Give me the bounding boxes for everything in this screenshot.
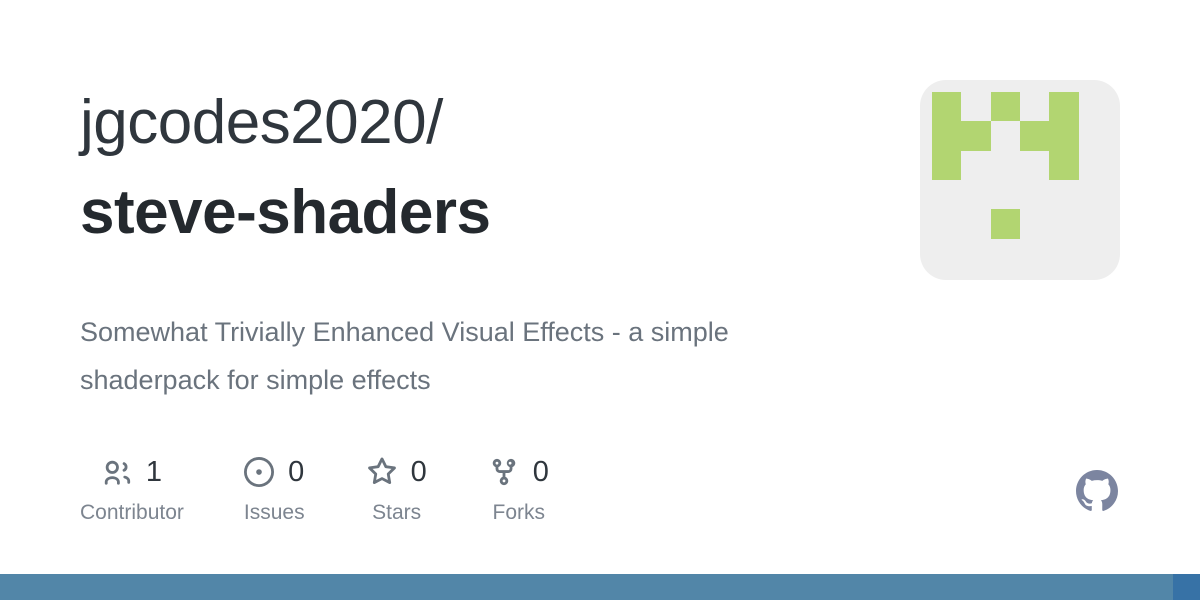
avatar-pixel-3-1 xyxy=(961,180,990,209)
avatar-pixel-2-4 xyxy=(1049,151,1078,180)
avatar-pixel-0-0 xyxy=(932,92,961,121)
star-icon xyxy=(367,457,397,487)
avatar-pixel-2-3 xyxy=(1020,151,1049,180)
repository-name: steve-shaders xyxy=(80,182,840,244)
avatar-pixel-5-4 xyxy=(1049,239,1078,268)
github-octocat-icon xyxy=(1076,470,1118,512)
stat-forks: 0 Forks xyxy=(489,452,549,523)
stat-stars-top: 0 xyxy=(367,452,427,492)
avatar-pixel-1-3 xyxy=(1020,121,1049,150)
avatar-pixel-3-0 xyxy=(932,180,961,209)
stat-forks-label: Forks xyxy=(493,502,546,523)
bottom-bar xyxy=(0,574,1200,600)
bottom-bar-main xyxy=(0,574,1173,600)
repository-social-card: jgcodes2020/ steve-shaders Somewhat Triv… xyxy=(0,0,1200,574)
stat-forks-value: 0 xyxy=(533,458,549,487)
stat-contributors-value: 1 xyxy=(146,458,162,487)
page-title: jgcodes2020/ steve-shaders xyxy=(80,92,840,244)
avatar-pixel-4-5 xyxy=(1079,209,1108,238)
repository-avatar xyxy=(920,80,1120,280)
avatar-pixel-1-0 xyxy=(932,121,961,150)
avatar-pixel-2-2 xyxy=(991,151,1020,180)
bottom-bar-accent xyxy=(1173,574,1200,600)
stat-stars-label: Stars xyxy=(372,502,421,523)
repo-forked-icon xyxy=(489,457,519,487)
avatar-pixel-4-4 xyxy=(1049,209,1078,238)
avatar-pixel-5-0 xyxy=(932,239,961,268)
avatar-pixel-4-0 xyxy=(932,209,961,238)
avatar-pixel-3-4 xyxy=(1049,180,1078,209)
avatar-pixel-1-2 xyxy=(991,121,1020,150)
avatar-pixel-0-1 xyxy=(961,92,990,121)
stat-issues-label: Issues xyxy=(244,502,305,523)
avatar-pixel-5-1 xyxy=(961,239,990,268)
repository-stats: 1 Contributor 0 Issues xyxy=(80,452,549,523)
avatar-pixel-5-2 xyxy=(991,239,1020,268)
stat-issues-value: 0 xyxy=(288,458,304,487)
stat-forks-top: 0 xyxy=(489,452,549,492)
repository-owner: jgcodes2020/ xyxy=(80,92,840,154)
avatar-pixel-5-5 xyxy=(1079,239,1108,268)
avatar-pixel-2-0 xyxy=(932,151,961,180)
avatar-pixel-0-2 xyxy=(991,92,1020,121)
avatar-pixel-3-3 xyxy=(1020,180,1049,209)
avatar-pixel-0-5 xyxy=(1079,92,1108,121)
repository-description: Somewhat Trivially Enhanced Visual Effec… xyxy=(80,308,800,404)
stat-contributors-top: 1 xyxy=(102,452,162,492)
avatar-pixel-3-2 xyxy=(991,180,1020,209)
avatar-pixel-4-2 xyxy=(991,209,1020,238)
stat-issues-top: 0 xyxy=(244,452,304,492)
stat-stars-value: 0 xyxy=(411,458,427,487)
avatar-pixel-1-5 xyxy=(1079,121,1108,150)
avatar-pixel-2-5 xyxy=(1079,151,1108,180)
avatar-pixel-2-1 xyxy=(961,151,990,180)
avatar-pixel-4-3 xyxy=(1020,209,1049,238)
issue-opened-icon xyxy=(244,457,274,487)
avatar-pixel-4-1 xyxy=(961,209,990,238)
avatar-pixel-5-3 xyxy=(1020,239,1049,268)
stat-contributors-label: Contributor xyxy=(80,502,184,523)
people-icon xyxy=(102,457,132,487)
avatar-pixel-1-4 xyxy=(1049,121,1078,150)
avatar-pixel-0-3 xyxy=(1020,92,1049,121)
stat-stars: 0 Stars xyxy=(367,452,427,523)
avatar-pixel-0-4 xyxy=(1049,92,1078,121)
stat-issues: 0 Issues xyxy=(244,452,305,523)
pixel-avatar xyxy=(932,92,1108,268)
avatar-pixel-3-5 xyxy=(1079,180,1108,209)
stat-contributors: 1 Contributor xyxy=(80,452,184,523)
avatar-pixel-1-1 xyxy=(961,121,990,150)
